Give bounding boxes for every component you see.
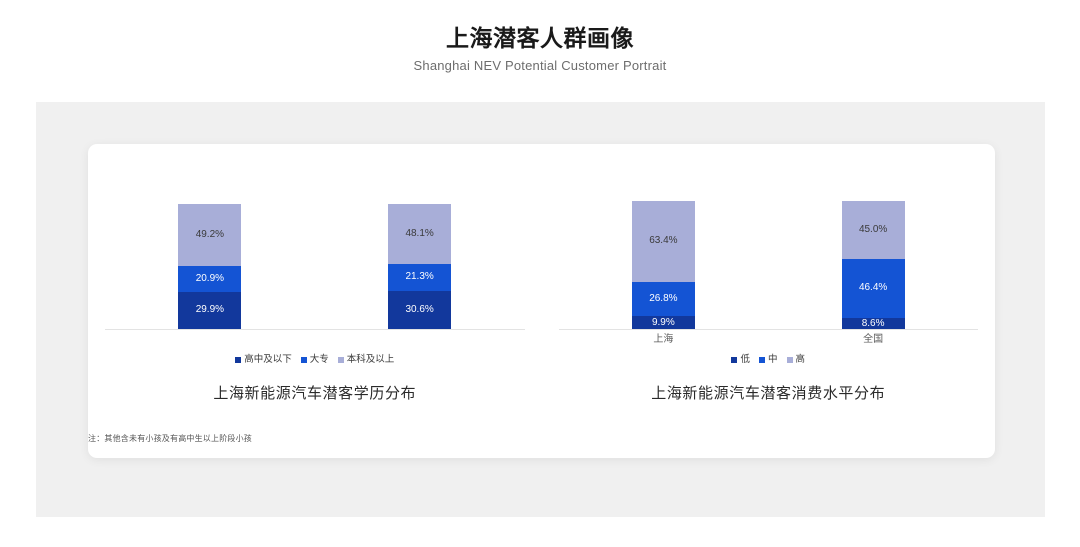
bar-column[interactable]: 49.2%20.9%29.9% [178, 204, 241, 329]
category-label [388, 331, 451, 349]
bar-segment-大专[interactable]: 20.9% [178, 266, 241, 292]
category-labels: 上海全国 [559, 331, 979, 349]
chart-card: 49.2%20.9%29.9%48.1%21.3%30.6%高中及以下大专本科及… [88, 144, 995, 458]
bar-column[interactable]: 48.1%21.3%30.6% [388, 204, 451, 329]
bar-segment-高[interactable]: 45.0% [842, 201, 905, 259]
chart-2: 63.4%26.8%9.9%45.0%46.4%8.6%上海全国低中高上海新能源… [542, 144, 996, 419]
x-axis-line [559, 329, 979, 330]
charts-row: 49.2%20.9%29.9%48.1%21.3%30.6%高中及以下大专本科及… [88, 144, 995, 419]
legend-item[interactable]: 本科及以上 [338, 354, 395, 366]
chart-1: 49.2%20.9%29.9%48.1%21.3%30.6%高中及以下大专本科及… [88, 144, 542, 419]
legend-item[interactable]: 高中及以下 [235, 354, 292, 366]
page-root: 上海潜客人群画像 Shanghai NEV Potential Customer… [0, 0, 1080, 547]
legend-label: 大专 [310, 354, 329, 366]
bar-segment-本科及以上[interactable]: 49.2% [178, 204, 241, 266]
legend-swatch-icon [338, 357, 344, 363]
page-header: 上海潜客人群画像 Shanghai NEV Potential Customer… [0, 24, 1080, 74]
chart-legend: 低中高 [542, 352, 996, 368]
legend-label: 高 [796, 354, 806, 366]
bar-segment-中[interactable]: 46.4% [842, 259, 905, 318]
plot-area: 49.2%20.9%29.9%48.1%21.3%30.6% [88, 144, 542, 330]
bar-segment-中[interactable]: 26.8% [632, 282, 695, 316]
plot-area: 63.4%26.8%9.9%45.0%46.4%8.6% [542, 144, 996, 330]
legend-swatch-icon [787, 357, 793, 363]
legend-label: 低 [740, 354, 750, 366]
legend-swatch-icon [301, 357, 307, 363]
chart-legend: 高中及以下大专本科及以上 [88, 352, 542, 368]
bar-segment-高中及以下[interactable]: 29.9% [178, 292, 241, 329]
chart-caption: 上海新能源汽车潜客学历分布 [88, 384, 542, 404]
bar-segment-低[interactable]: 8.6% [842, 318, 905, 329]
legend-label: 中 [768, 354, 778, 366]
legend-swatch-icon [731, 357, 737, 363]
legend-item[interactable]: 低 [731, 354, 750, 366]
legend-item[interactable]: 中 [759, 354, 778, 366]
legend-label: 高中及以下 [244, 354, 292, 366]
bar-segment-大专[interactable]: 21.3% [388, 264, 451, 291]
legend-swatch-icon [235, 357, 241, 363]
category-labels [105, 331, 525, 349]
bar-segment-高[interactable]: 63.4% [632, 201, 695, 282]
legend-item[interactable]: 大专 [301, 354, 329, 366]
page-title: 上海潜客人群画像 [0, 24, 1080, 52]
legend-label: 本科及以上 [347, 354, 395, 366]
legend-swatch-icon [759, 357, 765, 363]
bar-group: 49.2%20.9%29.9%48.1%21.3%30.6% [105, 144, 525, 329]
legend-item[interactable]: 高 [787, 354, 806, 366]
category-label [178, 331, 241, 349]
bar-column[interactable]: 45.0%46.4%8.6% [842, 201, 905, 329]
bar-segment-本科及以上[interactable]: 48.1% [388, 204, 451, 264]
bar-segment-高中及以下[interactable]: 30.6% [388, 291, 451, 329]
category-label: 上海 [632, 331, 695, 349]
bar-group: 63.4%26.8%9.9%45.0%46.4%8.6% [559, 144, 979, 329]
bar-segment-低[interactable]: 9.9% [632, 316, 695, 329]
chart-caption: 上海新能源汽车潜客消费水平分布 [542, 384, 996, 404]
x-axis-line [105, 329, 525, 330]
bar-column[interactable]: 63.4%26.8%9.9% [632, 201, 695, 329]
footnote: 注：其他含未有小孩及有高中生以上阶段小孩 [88, 433, 252, 445]
category-label: 全国 [842, 331, 905, 349]
page-subtitle: Shanghai NEV Potential Customer Portrait [0, 58, 1080, 74]
